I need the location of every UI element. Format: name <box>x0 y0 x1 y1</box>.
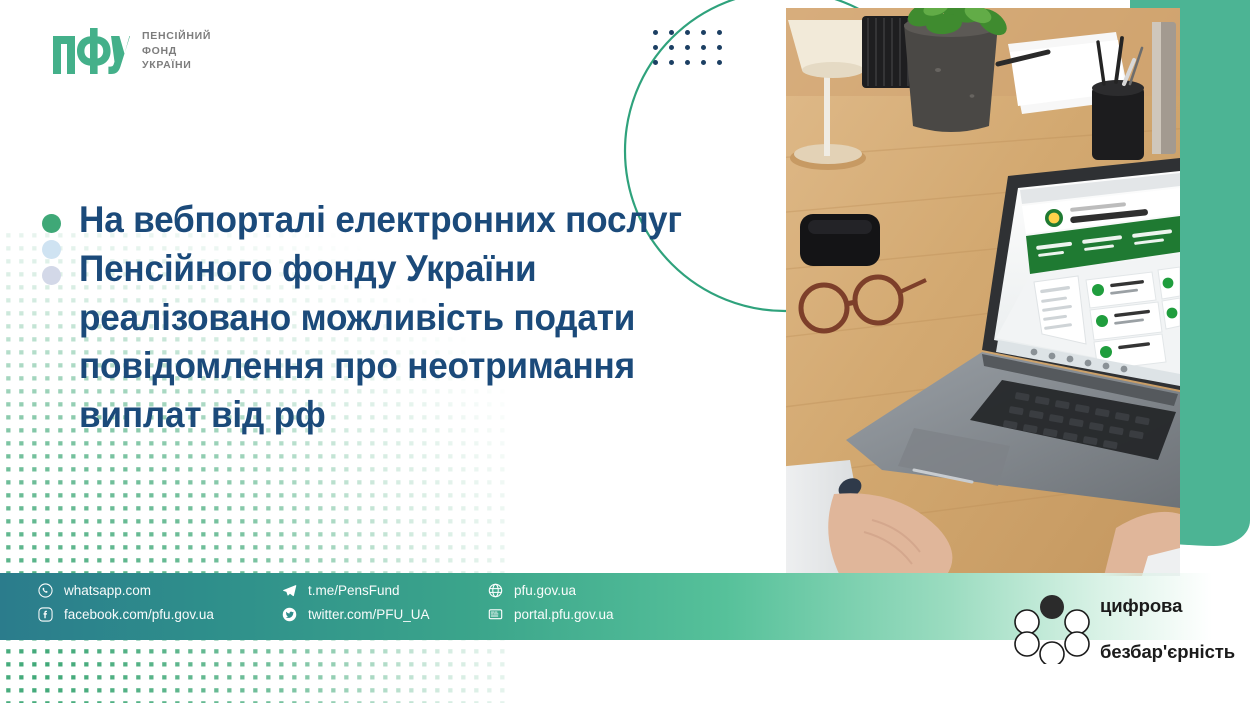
dot-grid-icon <box>653 30 733 75</box>
footer-link-label: portal.pfu.gov.ua <box>514 607 614 622</box>
footer-link-label: pfu.gov.ua <box>514 583 576 598</box>
accessibility-line-1: цифрова <box>1100 595 1235 618</box>
hero-photo <box>786 8 1180 576</box>
footer-link-whatsapp[interactable]: whatsapp.com <box>38 583 282 598</box>
headline-block: На вебпорталі електронних послуг Пенсійн… <box>42 196 739 440</box>
accessibility-line-2: безбар'єрність <box>1100 641 1235 664</box>
whatsapp-icon <box>38 583 53 598</box>
digital-accessibility-text: цифрова безбар'єрність <box>1100 572 1235 687</box>
footer-link-twitter[interactable]: twitter.com/PFU_UA <box>282 607 488 622</box>
pfu-logo-mark-icon <box>52 28 130 74</box>
logo-line-2: ФОНД <box>142 44 211 59</box>
footer-link-label: t.me/PensFund <box>308 583 400 598</box>
footer-links: whatsapp.com facebook.com/pfu.gov.ua <box>38 583 728 622</box>
footer-link-label: whatsapp.com <box>64 583 151 598</box>
footer-link-label: facebook.com/pfu.gov.ua <box>64 607 214 622</box>
pfu-logo: ПЕНСІЙНИЙ ФОНД УКРАЇНИ <box>52 28 211 74</box>
bullet-dots <box>42 196 61 440</box>
footer-link-label: twitter.com/PFU_UA <box>308 607 430 622</box>
poster-canvas: ПЕНСІЙНИЙ ФОНД УКРАЇНИ На вебпорталі еле… <box>0 0 1250 703</box>
telegram-icon <box>282 583 297 598</box>
bullet-dot-green <box>42 214 61 233</box>
twitter-icon <box>282 607 297 622</box>
footer-column-social: whatsapp.com facebook.com/pfu.gov.ua <box>38 583 282 622</box>
facebook-icon <box>38 607 53 622</box>
footer-link-website[interactable]: pfu.gov.ua <box>488 583 728 598</box>
footer-link-portal[interactable]: portal.pfu.gov.ua <box>488 607 728 622</box>
bullet-dot-blue <box>42 240 61 259</box>
page-title: На вебпорталі електронних послуг Пенсійн… <box>79 196 706 440</box>
footer-column-web: pfu.gov.ua portal.pfu.gov.ua <box>488 583 728 622</box>
logo-line-1: ПЕНСІЙНИЙ <box>142 29 211 44</box>
footer-column-messengers: t.me/PensFund twitter.com/PFU_UA <box>282 583 488 622</box>
bullet-dot-lavender <box>42 266 61 285</box>
digital-accessibility-logo: цифрова безбар'єрність <box>1014 572 1235 687</box>
footer-link-facebook[interactable]: facebook.com/pfu.gov.ua <box>38 607 282 622</box>
logo-line-3: УКРАЇНИ <box>142 58 211 73</box>
portal-icon <box>488 607 503 622</box>
digital-accessibility-circles-icon <box>1014 594 1090 664</box>
globe-icon <box>488 583 503 598</box>
footer-link-telegram[interactable]: t.me/PensFund <box>282 583 488 598</box>
pfu-logo-text: ПЕНСІЙНИЙ ФОНД УКРАЇНИ <box>142 29 211 74</box>
